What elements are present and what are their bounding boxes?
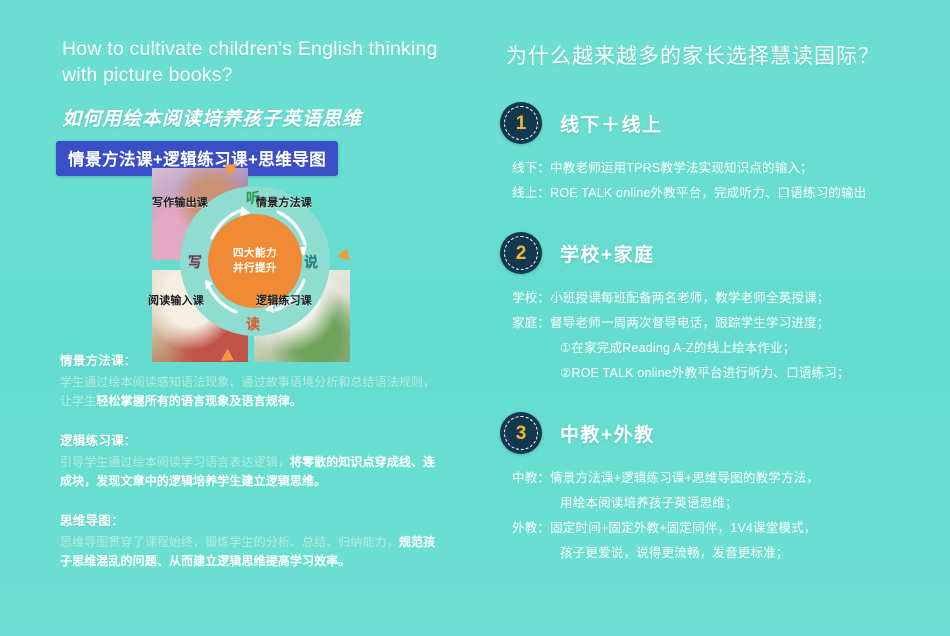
block-plain-text: 思维导图贯穿了课程始终，锻炼学生的分析、总结、归纳能力， bbox=[60, 535, 399, 549]
benefit-section-2: 2 学校+家庭 学校：小班授课每班配备两名老师，教学老师全英授课； 家庭：督导老… bbox=[500, 232, 940, 386]
diagram-label-writing-output: 写作输出课 bbox=[152, 194, 208, 210]
step-badge-3: 3 bbox=[500, 412, 542, 454]
center-line-2: 并行提升 bbox=[233, 261, 277, 276]
section-body: 学校：小班授课每班配备两名老师，教学老师全英授课； 家庭：督导老师一周两次督导电… bbox=[512, 286, 940, 386]
block-title: 思维导图： bbox=[60, 510, 440, 529]
center-line-1: 四大能力 bbox=[233, 246, 277, 261]
body-line: ②ROE TALK online外教平台进行听力、口语练习； bbox=[512, 361, 940, 386]
english-headline: How to cultivate children's English thin… bbox=[62, 36, 456, 88]
block-strong-text: 轻松掌握所有的语言现象及语言规律。 bbox=[96, 394, 302, 408]
skill-speak: 说 bbox=[304, 252, 319, 272]
section-body: 中教：情景方法课+逻辑练习课+思维导图的教学方法， 用绘本阅读培养孩子英语思维；… bbox=[512, 466, 940, 566]
diagram-label-logic-practice: 逻辑练习课 bbox=[256, 292, 312, 308]
step-number: 2 bbox=[516, 244, 527, 263]
block-plain-text: 引导学生通过绘本阅读学习语言表达逻辑， bbox=[60, 455, 290, 469]
step-badge-2: 2 bbox=[500, 232, 542, 274]
step-badge-1: 1 bbox=[500, 102, 542, 144]
body-line: 用绘本阅读培养孩子英语思维； bbox=[512, 491, 940, 516]
body-line: 外教：固定时间+固定外教+固定同伴，1V4课堂模式， bbox=[512, 516, 940, 541]
course-description-list: 情景方法课： 学生通过绘本阅读感知语法现象、通过故事语境分析和总结语法规则，让学… bbox=[60, 350, 440, 590]
body-line: 线上：ROE TALK online外教平台，完成听力、口语练习的输出 bbox=[512, 181, 940, 206]
right-column: 为什么越来越多的家长选择慧读国际？ 1 线下＋线上 线下：中教老师运用TPRS教… bbox=[500, 40, 940, 592]
course-description-item: 逻辑练习课： 引导学生通过绘本阅读学习语言表达逻辑，将零散的知识点穿成线、连成块… bbox=[60, 430, 440, 491]
benefit-section-1: 1 线下＋线上 线下：中教老师运用TPRS教学法实现知识点的输入； 线上：ROE… bbox=[500, 102, 940, 206]
diagram-label-scene-method: 情景方法课 bbox=[256, 194, 312, 210]
step-number: 3 bbox=[516, 424, 527, 443]
section-title: 学校+家庭 bbox=[560, 240, 655, 267]
body-line: 孩子更爱说，说得更流畅，发音更标准； bbox=[512, 541, 940, 566]
skill-write: 写 bbox=[188, 252, 203, 272]
right-headline: 为什么越来越多的家长选择慧读国际？ bbox=[506, 40, 940, 70]
diagram-label-reading-input: 阅读输入课 bbox=[148, 292, 204, 308]
section-title: 中教+外教 bbox=[560, 420, 655, 447]
section-header: 1 线下＋线上 bbox=[500, 102, 940, 144]
body-line: 学校：小班授课每班配备两名老师，教学老师全英授课； bbox=[512, 286, 940, 311]
body-line: 中教：情景方法课+逻辑练习课+思维导图的教学方法， bbox=[512, 466, 940, 491]
section-header: 3 中教+外教 bbox=[500, 412, 940, 454]
step-number: 1 bbox=[516, 114, 527, 133]
block-body: 思维导图贯穿了课程始终，锻炼学生的分析、总结、归纳能力，规范孩子思维混乱的问题、… bbox=[60, 533, 440, 571]
section-body: 线下：中教老师运用TPRS教学法实现知识点的输入； 线上：ROE TALK on… bbox=[512, 156, 940, 206]
block-title: 逻辑练习课： bbox=[60, 430, 440, 449]
four-skills-diagram: 听 说 读 写 四大能力 并行提升 写作输出课 情景方法课 阅读输入课 逻辑练习… bbox=[152, 168, 352, 364]
block-body: 引导学生通过绘本阅读学习语言表达逻辑，将零散的知识点穿成线、连成块，发现文章中的… bbox=[60, 453, 440, 491]
course-description-item: 情景方法课： 学生通过绘本阅读感知语法现象、通过故事语境分析和总结语法规则，让学… bbox=[60, 350, 440, 411]
chinese-headline: 如何用绘本阅读培养孩子英语思维 bbox=[62, 104, 456, 131]
course-description-item: 思维导图： 思维导图贯穿了课程始终，锻炼学生的分析、总结、归纳能力，规范孩子思维… bbox=[60, 510, 440, 571]
poster-root: How to cultivate children's English thin… bbox=[0, 0, 950, 636]
left-column: How to cultivate children's English thin… bbox=[56, 36, 456, 176]
body-line: 家庭：督导老师一周两次督导电话，跟踪学生学习进度； bbox=[512, 311, 940, 336]
skill-read: 读 bbox=[246, 314, 261, 334]
block-title: 情景方法课： bbox=[60, 350, 440, 369]
benefit-section-3: 3 中教+外教 中教：情景方法课+逻辑练习课+思维导图的教学方法， 用绘本阅读培… bbox=[500, 412, 940, 566]
body-line: ①在家完成Reading A-Z的线上绘本作业； bbox=[512, 336, 940, 361]
body-line: 线下：中教老师运用TPRS教学法实现知识点的输入； bbox=[512, 156, 940, 181]
section-title: 线下＋线上 bbox=[560, 110, 663, 137]
section-header: 2 学校+家庭 bbox=[500, 232, 940, 274]
block-body: 学生通过绘本阅读感知语法现象、通过故事语境分析和总结语法规则，让学生轻松掌握所有… bbox=[60, 373, 440, 411]
